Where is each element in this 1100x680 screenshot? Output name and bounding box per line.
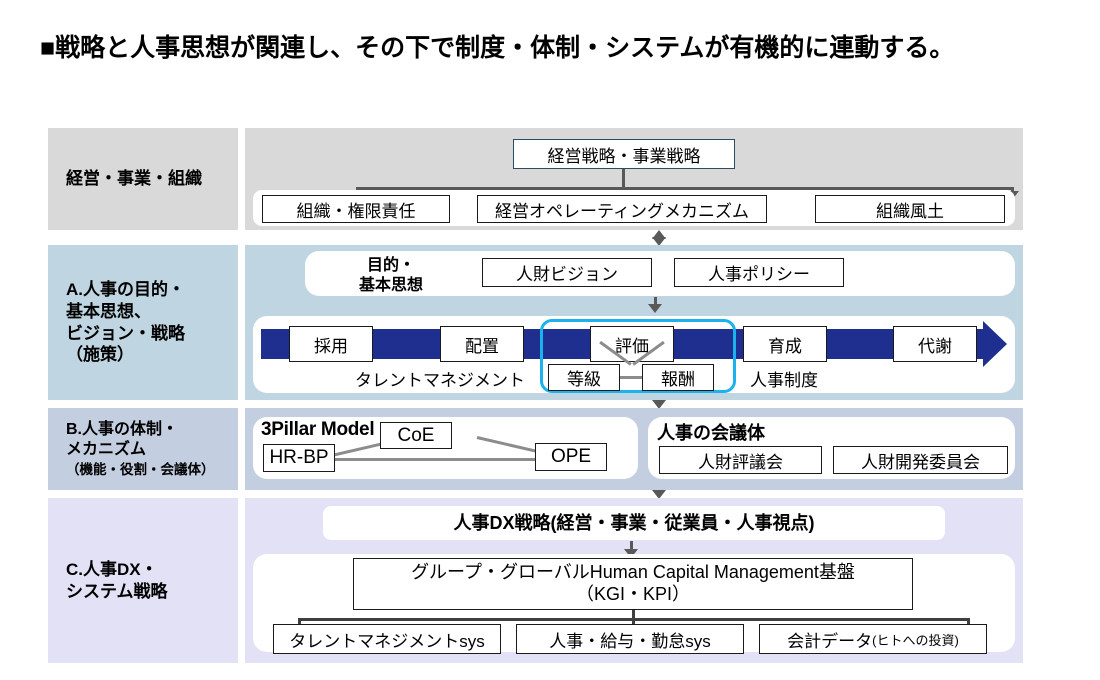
row3-body: 3Pillar Model HR-BP CoE OPE 人事の会議体 人財評議会… <box>245 408 1023 490</box>
row3-label-line2: メカニズム <box>66 440 238 460</box>
accounting-data-main: 会計データ <box>787 627 872 652</box>
box-hr-policy[interactable]: 人事ポリシー <box>674 258 844 287</box>
row3-label-line3: （機能・役割・会議体） <box>66 461 238 478</box>
row2-label-line1: A.人事の目的・ <box>66 279 238 301</box>
row1-label: 経営・事業・組織 <box>48 128 238 230</box>
strategy-diagram: 経営・事業・組織 経営戦略・事業戦略 組織・権限責任 経営オペレーティングメカニ… <box>48 128 1023 663</box>
box-grade[interactable]: 等級 <box>548 364 620 391</box>
page-title: ■戦略と人事思想が関連し、その下で制度・体制・システムが有機的に連動する。 <box>40 28 1060 68</box>
box-accounting-data[interactable]: 会計データ(ヒトへの投資) <box>759 624 987 654</box>
hr-pipeline-arrowhead <box>983 321 1007 367</box>
row3-label: B.人事の体制・ メカニズム （機能・役割・会議体） <box>48 408 238 490</box>
stage-box-development[interactable]: 育成 <box>743 326 827 362</box>
caption-talent-management: タレントマネジメント <box>355 366 525 391</box>
row-hr-dx-system-strategy: C.人事DX・ システム戦略 人事DX戦略(経営・事業・従業員・人事視点) グル… <box>48 498 1023 663</box>
row-hr-purpose-vision-strategy: A.人事の目的・ 基本思想、 ビジョン・戦略 （施策） 目的・ 基本思想 人財ビ… <box>48 245 1023 400</box>
row2-label-line3: ビジョン・戦略 <box>66 323 238 345</box>
box-compensation[interactable]: 報酬 <box>642 364 714 391</box>
row4-label-line1: C.人事DX・ <box>66 559 238 581</box>
row-management-business-organization: 経営・事業・組織 経営戦略・事業戦略 組織・権限責任 経営オペレーティングメカニ… <box>48 128 1023 230</box>
box-organization-authority[interactable]: 組織・権限責任 <box>262 195 450 223</box>
box-hr-payroll-attendance-sys[interactable]: 人事・給与・勤怠sys <box>516 624 744 654</box>
three-pillar-title: 3Pillar Model <box>261 419 374 441</box>
row1-label-line1: 経営・事業・組織 <box>66 168 238 190</box>
stage-box-attrition[interactable]: 代謝 <box>893 326 977 362</box>
hr-dx-strategy-label[interactable]: 人事DX戦略(経営・事業・従業員・人事視点) <box>323 506 945 540</box>
accounting-data-sub: (ヒトへの投資) <box>872 630 959 649</box>
hr-meetings-title: 人事の会議体 <box>657 419 765 445</box>
connector-grade-compensation <box>620 376 642 379</box>
row-hr-structure-mechanism: B.人事の体制・ メカニズム （機能・役割・会議体） 3Pillar Model… <box>48 408 1023 490</box>
row2-label: A.人事の目的・ 基本思想、 ビジョン・戦略 （施策） <box>48 245 238 400</box>
stage-box-recruitment[interactable]: 採用 <box>289 326 373 362</box>
row2-label-line4: （施策） <box>66 344 238 366</box>
purpose-label-line2: 基本思想 <box>359 277 423 294</box>
row2-body: 目的・ 基本思想 人財ビジョン 人事ポリシー 採用 配置 評価 育成 代謝 <box>245 245 1023 400</box>
row3-label-line1: B.人事の体制・ <box>66 420 238 440</box>
row1-body: 経営戦略・事業戦略 組織・権限責任 経営オペレーティングメカニズム 組織風土 <box>245 128 1023 230</box>
connector-strategy-stem <box>622 169 625 187</box>
box-operating-mechanism[interactable]: 経営オペレーティングメカニズム <box>477 195 767 223</box>
row4-body: 人事DX戦略(経営・事業・従業員・人事視点) グループ・グローバルHuman C… <box>245 498 1023 663</box>
hcm-platform-line1: グループ・グローバルHuman Capital Management基盤 <box>411 562 855 584</box>
row2-label-line2: 基本思想、 <box>66 301 238 323</box>
box-talent-vision[interactable]: 人財ビジョン <box>482 258 652 287</box>
box-ope[interactable]: OPE <box>535 443 607 471</box>
caption-hr-system: 人事制度 <box>750 366 818 391</box>
box-talent-management-sys[interactable]: タレントマネジメントsys <box>273 624 501 654</box>
row4-label-line2: システム戦略 <box>66 581 238 603</box>
box-hr-bp[interactable]: HR-BP <box>263 444 335 472</box>
box-talent-development-committee[interactable]: 人財開発委員会 <box>833 446 1008 474</box>
purpose-group-label: 目的・ 基本思想 <box>359 256 423 296</box>
box-corporate-strategy[interactable]: 経営戦略・事業戦略 <box>513 139 735 169</box>
box-talent-council[interactable]: 人財評議会 <box>659 446 822 474</box>
box-organization-culture[interactable]: 組織風土 <box>815 195 1005 223</box>
hcm-platform-line2: （KGI・KPI） <box>576 584 690 606</box>
box-coe[interactable]: CoE <box>380 422 452 449</box>
box-hcm-platform[interactable]: グループ・グローバルHuman Capital Management基盤 （KG… <box>353 558 913 610</box>
purpose-label-line1: 目的・ <box>367 257 415 274</box>
arrow-purpose-to-pipeline <box>648 304 662 313</box>
stage-box-placement[interactable]: 配置 <box>440 326 524 362</box>
row4-label: C.人事DX・ システム戦略 <box>48 498 238 663</box>
